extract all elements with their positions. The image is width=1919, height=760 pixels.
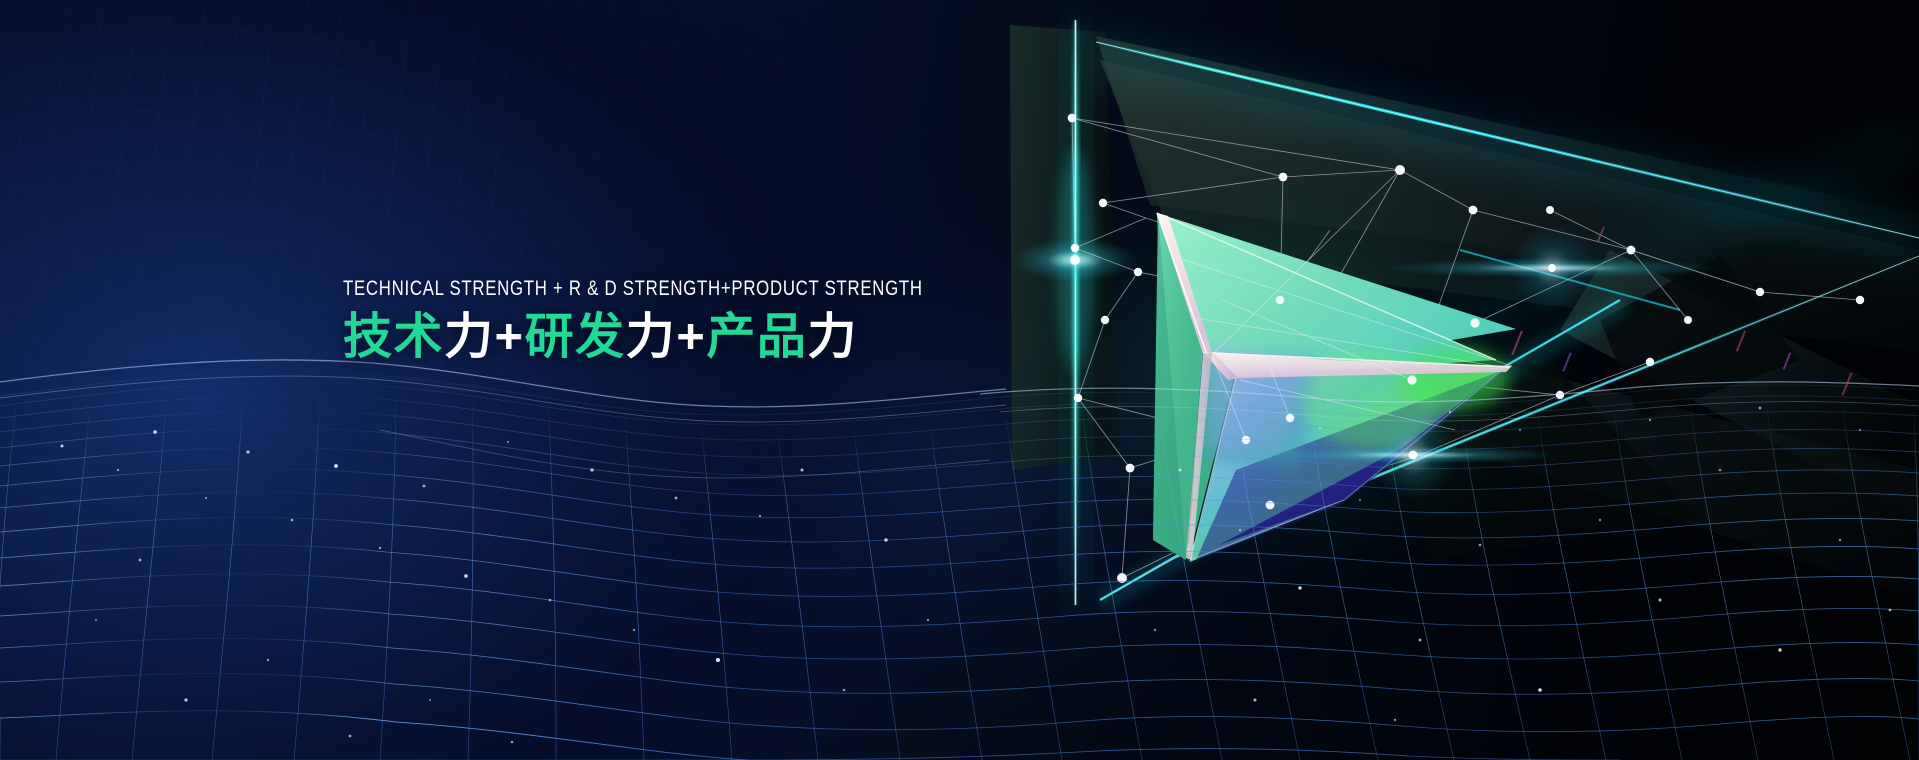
background-grid-pattern <box>0 0 1919 760</box>
dark-chevron-group <box>1010 25 1919 600</box>
headline-segment-6: + <box>676 310 706 364</box>
background-gradient <box>0 0 1919 760</box>
headline-block: TECHNICAL STRENGTH + R & D STRENGTH+PROD… <box>343 276 1068 366</box>
node-network-lines <box>1072 118 1860 600</box>
headline-segment-8: 力 <box>807 310 858 364</box>
lens-flare-right-edge <box>1382 224 1722 312</box>
chromatic-ticks <box>1511 226 1852 395</box>
prism-graphic <box>990 140 1590 600</box>
mesh-crest-highlights <box>0 360 1919 478</box>
wireframe-terrain <box>0 372 1919 760</box>
hero-artwork <box>0 0 1919 760</box>
hero-banner: TECHNICAL STRENGTH + R & D STRENGTH+PROD… <box>0 0 1919 760</box>
particles <box>61 407 1892 744</box>
page-title: 技术力+研发力+产品力 <box>343 308 1068 366</box>
headline-segment-7: 产品 <box>706 310 807 364</box>
lens-flare-lower <box>1263 409 1563 501</box>
headline-segment-4: 研发 <box>525 310 626 364</box>
cyan-edge-beams <box>1090 40 1919 610</box>
ambient-glows <box>0 0 1400 760</box>
node-dots <box>1068 114 1865 583</box>
headline-segment-2: 力 <box>444 310 495 364</box>
headline-segment-3: + <box>495 310 525 364</box>
headline-segment-1: 技术 <box>343 310 444 364</box>
eyebrow-text: TECHNICAL STRENGTH + R & D STRENGTH+PROD… <box>343 276 923 302</box>
headline-segment-5: 力 <box>626 310 677 364</box>
